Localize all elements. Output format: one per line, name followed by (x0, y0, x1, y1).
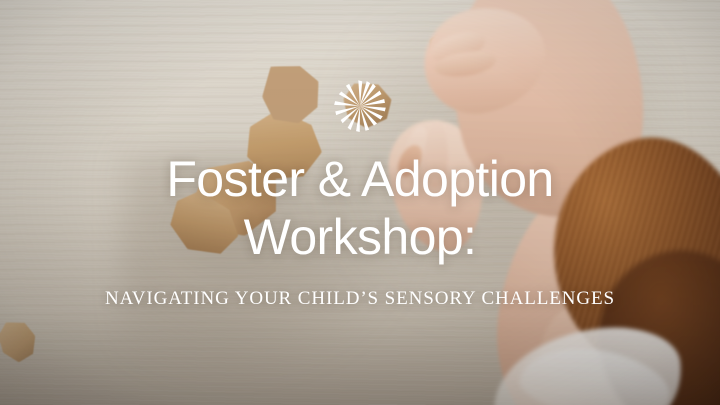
title-line-1: Foster & Adoption (166, 151, 553, 207)
event-banner: Foster & AdoptionWorkshop: NAVIGATING YO… (0, 0, 720, 405)
title-line-2: Workshop: (244, 209, 477, 265)
starburst-icon (332, 78, 388, 134)
page-title: Foster & AdoptionWorkshop: (0, 150, 720, 266)
page-subtitle: NAVIGATING YOUR CHILD’S SENSORY CHALLENG… (0, 288, 720, 310)
banner-content: Foster & AdoptionWorkshop: NAVIGATING YO… (0, 0, 720, 405)
